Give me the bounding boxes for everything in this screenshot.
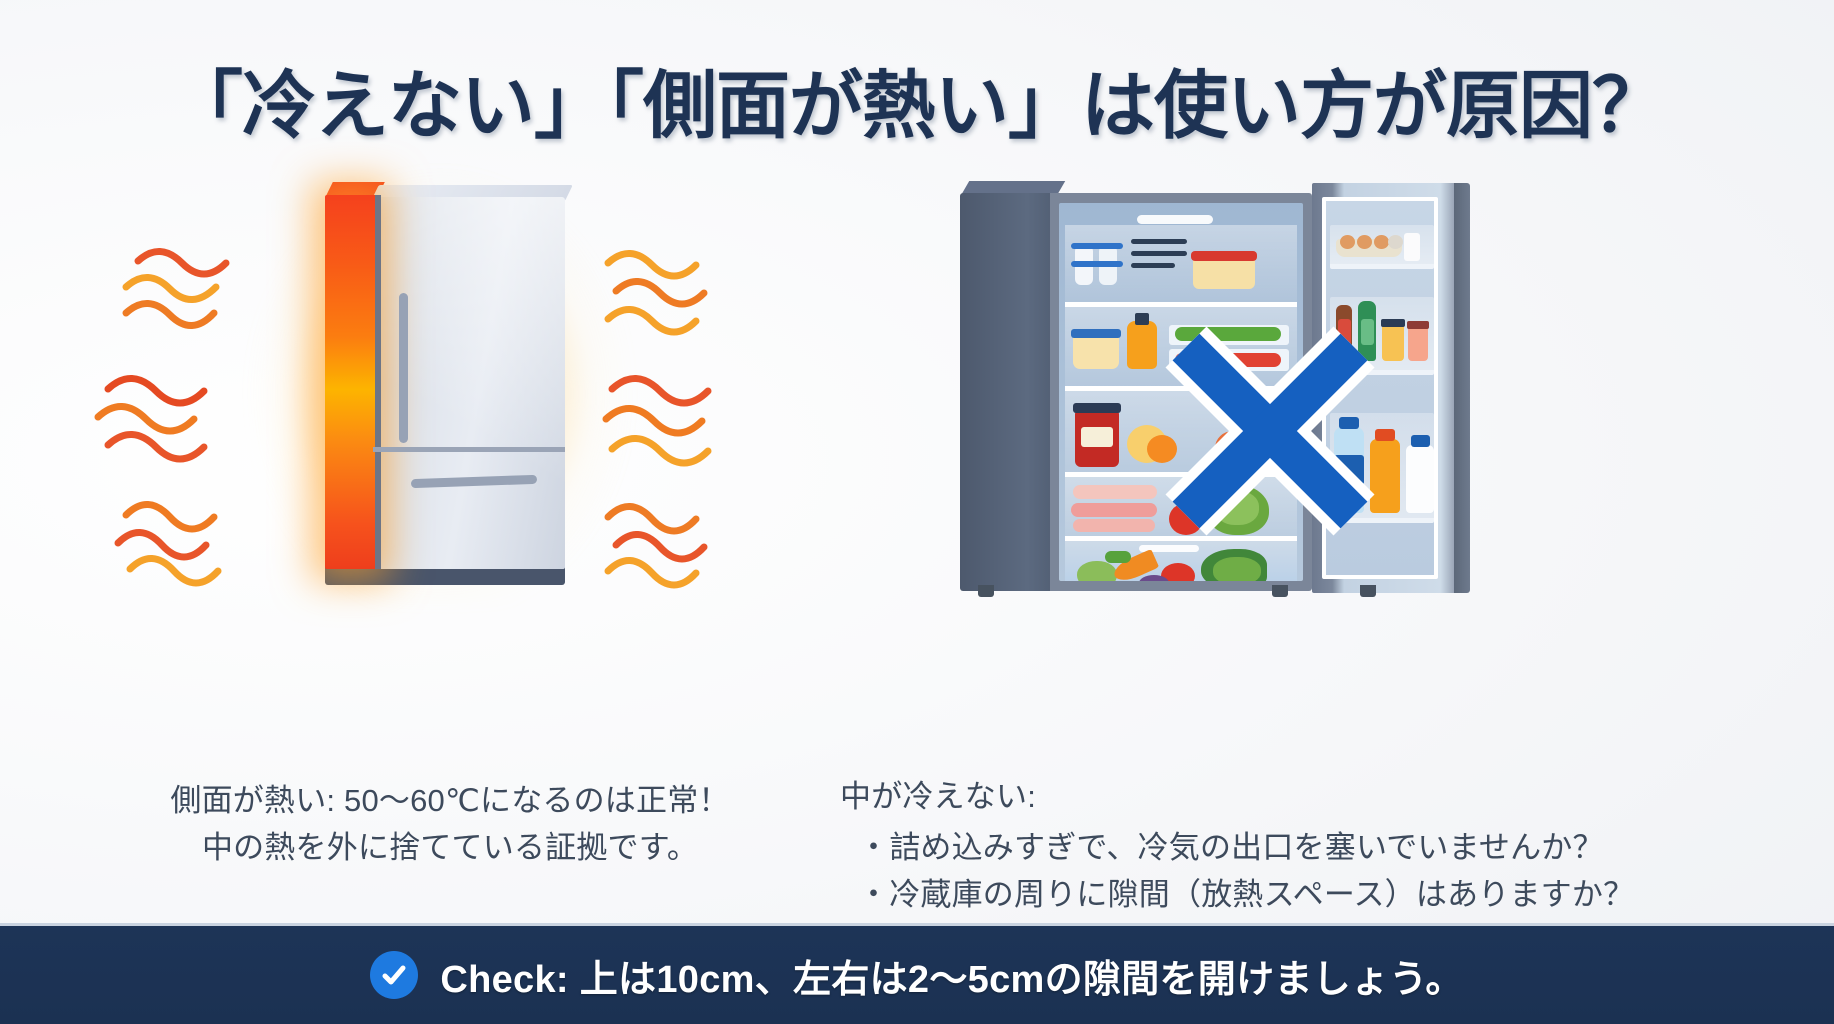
page-title: 「冷えない」「側面が熱い」は使い方が原因？ <box>0 46 1834 153</box>
caption-hot-line-2: 中の熱を外に捨てている証拠です。 <box>60 824 840 871</box>
bottle-cap <box>1135 313 1149 325</box>
panel-hot-side: 側面が熱い: 50〜60℃になるのは正常！ 中の熱を外に捨てている証拠です。 <box>60 165 840 785</box>
egg-1 <box>1340 235 1355 249</box>
caption-hot-side: 側面が熱い: 50〜60℃になるのは正常！ 中の熱を外に捨てている証拠です。 <box>60 777 840 871</box>
x-mark-icon <box>1160 325 1380 540</box>
tub-lid-blue <box>1071 329 1121 338</box>
refrigerator-hot-side-illustration <box>60 165 840 605</box>
interior-lamp <box>1137 215 1213 224</box>
caption-no-cooling-bullet-2: ・冷蔵庫の周りに隙間（放熱スペース）はありますか？ <box>840 871 1800 918</box>
shelf-rack-bar <box>1071 243 1123 249</box>
egg-3 <box>1374 235 1389 249</box>
cabinet-foot-right <box>1272 585 1288 597</box>
caption-no-cooling-bullet-1: ・詰め込みすぎで、冷気の出口を塞いでいませんか？ <box>840 824 1800 871</box>
panel-no-cooling: 中が冷えない: ・詰め込みすぎで、冷気の出口を塞いでいませんか？ ・冷蔵庫の周り… <box>830 165 1790 785</box>
jar-pink-lid <box>1407 321 1429 329</box>
cabinet-left-side <box>960 193 1056 591</box>
door-foot <box>1360 585 1376 597</box>
cabinet-foot-left <box>978 585 994 597</box>
check-icon <box>370 951 418 999</box>
footer-check-bar: Check: 上は10cm、左右は2〜5cmの隙間を開けましょう。 <box>0 923 1834 1024</box>
egg-2 <box>1357 235 1372 249</box>
label-line-2 <box>1131 251 1187 256</box>
jar-yellow <box>1382 325 1404 361</box>
door-milk-carton <box>1404 233 1420 261</box>
carrot-greens <box>1105 551 1131 563</box>
container-lid-red <box>1191 251 1257 261</box>
bottle-milk-large <box>1406 445 1434 513</box>
jar-lid-navy <box>1073 403 1121 413</box>
jar-yellow-lid <box>1381 319 1405 327</box>
bottle-milk-cap <box>1411 435 1430 447</box>
jar-pink <box>1408 327 1428 361</box>
footer-text: Check: 上は10cm、左右は2〜5cmの隙間を開けましょう。 <box>440 948 1463 1003</box>
cabinet-edge <box>375 195 381 569</box>
caption-no-cooling-heading: 中が冷えない: <box>840 773 1800 820</box>
refrigerator-closed <box>325 185 565 585</box>
meat-slice-1 <box>1073 485 1157 499</box>
vegetable-lettuce-small <box>1077 561 1117 581</box>
egg-4 <box>1388 235 1403 249</box>
hot-side-panel <box>325 195 377 569</box>
refrigerator-open <box>960 175 1520 595</box>
crisper-drawer <box>1065 541 1297 581</box>
interior-shelf-1 <box>1065 225 1297 307</box>
sausage-row <box>1073 519 1155 532</box>
door-outer-edge <box>1454 183 1470 593</box>
caption-hot-line-1: 側面が熱い: 50〜60℃になるのは正常！ <box>60 777 840 824</box>
label-line-1 <box>1131 239 1187 244</box>
overpacked-open-refrigerator-illustration <box>830 165 1790 605</box>
lettuce-highlight <box>1213 557 1261 581</box>
meat-slice-2 <box>1071 503 1157 517</box>
food-tub-butter <box>1073 335 1119 369</box>
bottle-orange-juice <box>1127 321 1157 369</box>
fridge-door-handle <box>399 293 408 443</box>
door-pocket-eggs <box>1330 225 1434 269</box>
jar-label <box>1081 427 1113 447</box>
shelf-rack-bar-2 <box>1071 261 1123 267</box>
checkmark-glyph <box>379 960 409 990</box>
label-line-3 <box>1131 263 1175 268</box>
door-divider <box>373 447 565 452</box>
infographic-canvas: 「冷えない」「側面が熱い」は使い方が原因？ <box>0 0 1834 1024</box>
caption-no-cooling: 中が冷えない: ・詰め込みすぎで、冷気の出口を塞いでいませんか？ ・冷蔵庫の周り… <box>840 773 1800 918</box>
